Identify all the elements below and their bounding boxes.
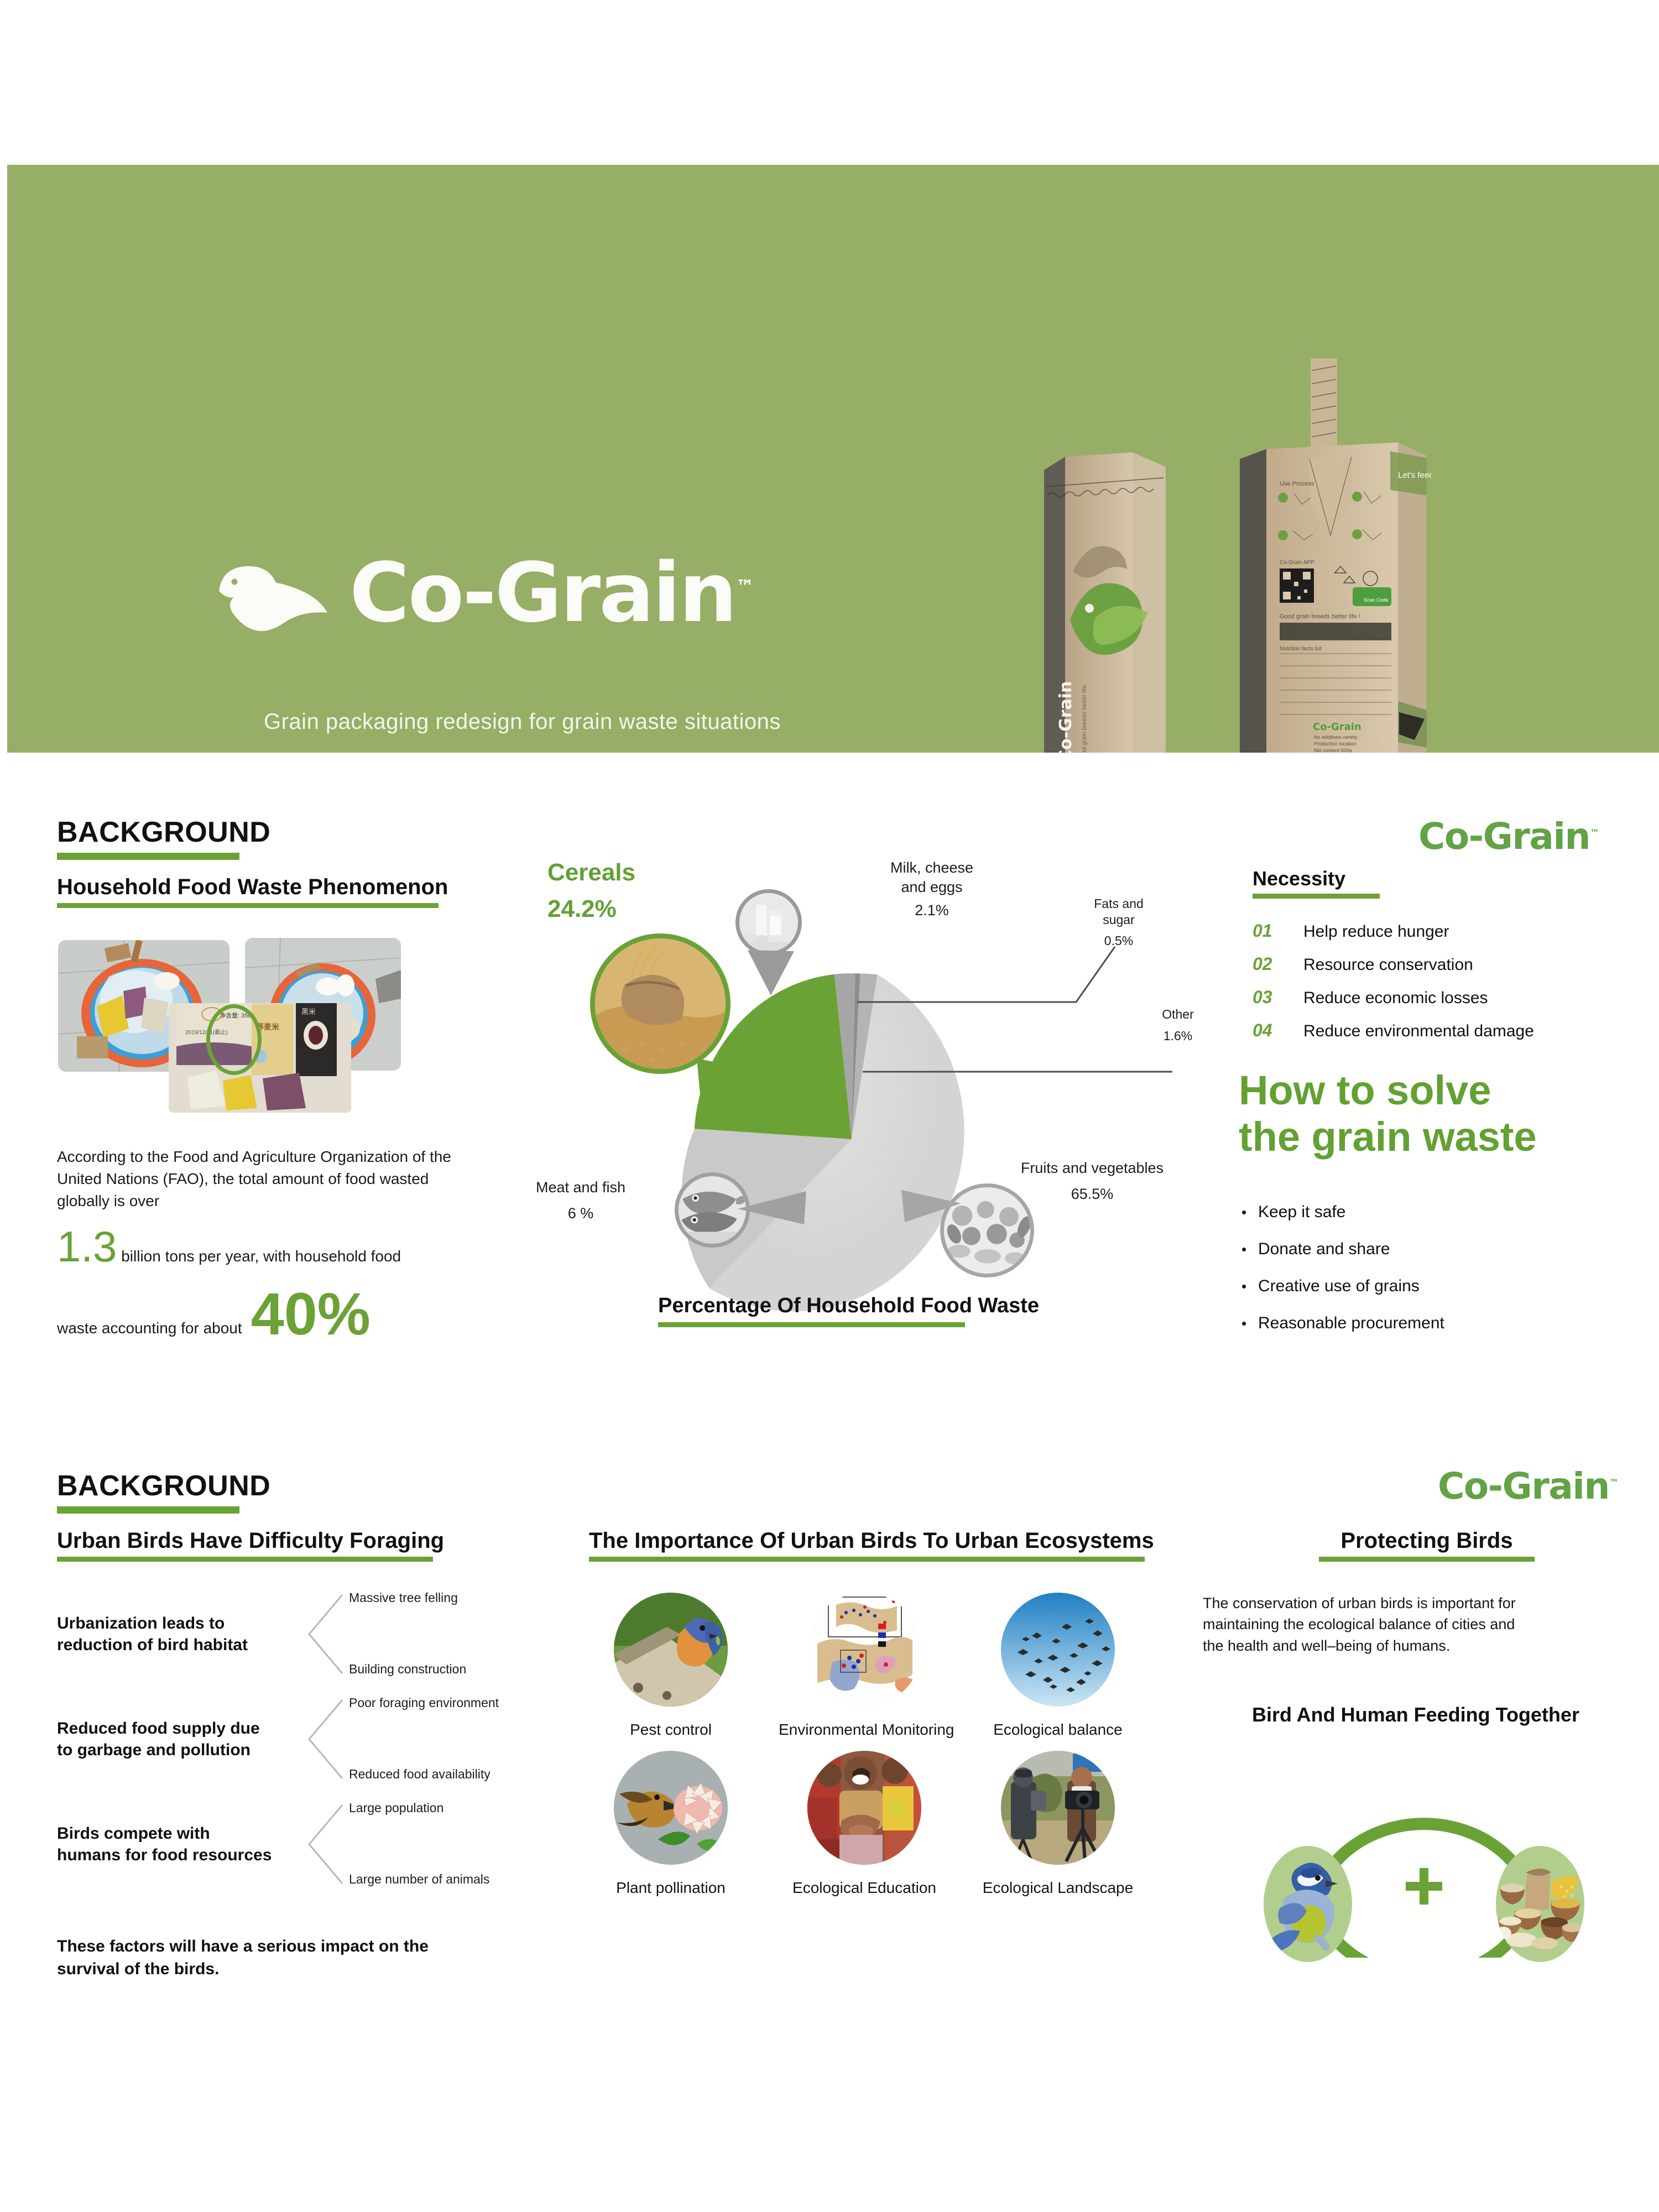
necessity-text: Reduce economic losses [1303,989,1488,1008]
cereals-highlight-label: Cereals 24.2% [547,854,635,927]
cereals-name: Cereals [547,854,635,891]
benefits-row: Plant pollination [585,1751,1155,1897]
milk-eggs-icon [735,889,802,956]
fao-paragraph-3: waste accounting for about [57,1317,242,1339]
necessity-number: 03 [1253,987,1303,1008]
necessity-number: 02 [1253,954,1303,974]
label-fats-sugar: Fats and sugar 0.5% [1072,896,1166,949]
label-milk-cheese-eggs: Milk, cheese and eggs 2.1% [841,858,1023,920]
fruits-pointer [901,1190,962,1232]
protecting-birds-paragraph: The conservation of urban birds is impor… [1203,1593,1623,1656]
chart-caption: Percentage Of Household Food Waste [658,1294,965,1327]
necessity-item: 03 Reduce economic losses [1253,987,1640,1008]
benefit-label: Ecological Landscape [972,1879,1144,1897]
label-meat-fish: Meat and fish 6 % [509,1178,653,1223]
importance-heading: The Importance Of Urban Birds To Urban E… [589,1529,1145,1562]
bird-human-feeding-diagram [1236,1736,1612,1958]
section1-eyebrow-rule [57,853,239,860]
svg-text:Co-Grain: Co-Grain [1056,681,1076,753]
svg-text:Good grain breeds better life: Good grain breeds better life [1081,685,1088,753]
section2-eyebrow-rule [57,1506,239,1514]
plus-icon [1406,1868,1442,1905]
cause-label: Reduced food supply due to garbage and p… [57,1718,295,1761]
benefit-item-environmental-monitoring: Environmental Monitoring [779,1593,950,1739]
household-waste-heading: Household Food Waste Phenomenon [57,875,439,908]
blue-tit-bird-photo [1264,1846,1352,1962]
bullet-icon: • [1241,1278,1258,1295]
benefit-item-ecological-landscape: Ecological Landscape [972,1751,1144,1897]
stat-1-3: 1.3 [57,1222,117,1271]
effect-label: Reduced food availability [349,1767,491,1782]
bullet-icon: • [1241,1241,1258,1258]
effect-label: Massive tree felling [349,1590,458,1605]
section1-logo: Co-Grain™ [1418,818,1599,855]
section1-eyebrow: BACKGROUND [57,817,239,860]
children-bird-photo [807,1751,921,1865]
bluebird-nestbox-photo [614,1593,728,1707]
hero-wordmark: Co-Grain™ [349,552,754,634]
meat-pointer [735,1191,806,1235]
fao-paragraph-2: billion tons per year, with household fo… [121,1248,401,1265]
effect-label: Building construction [349,1662,466,1677]
solution-text: Donate and share [1258,1240,1390,1259]
importance-heading-text: The Importance Of Urban Birds To Urban E… [589,1529,1145,1552]
feeding-together-heading: Bird And Human Feeding Together [1217,1703,1615,1726]
section1-eyebrow-text: BACKGROUND [57,817,239,848]
milk-pointer [748,950,794,995]
svg-text:Co-Grain APP: Co-Grain APP [1280,560,1314,566]
cereals-pointer [697,1051,780,1100]
necessity-heading-rule [1253,894,1380,899]
household-waste-heading-text: Household Food Waste Phenomenon [57,875,439,899]
benefit-item-ecological-balance: Ecological balance [972,1593,1144,1739]
effect-label: Large number of animals [349,1872,489,1887]
bullet-icon: • [1241,1315,1258,1332]
bullet-icon: • [1241,1204,1258,1221]
highlight-ellipse [206,1004,262,1075]
benefit-item-plant-pollination: Plant pollination [585,1751,757,1897]
svg-text:Good grain breeds better life: Good grain breeds better life ! [1280,613,1360,620]
necessity-text: Help reduce hunger [1303,922,1449,941]
benefit-label: Environmental Monitoring [779,1721,950,1739]
solution-text: Creative use of grains [1258,1277,1420,1296]
food-waste-photo-collage: 净含量: 350g 2019/12/21(截止) 荞麦米 黑米 [58,930,434,1113]
birdwatchers-camera-photo [1001,1751,1115,1865]
necessity-text: Resource conservation [1303,956,1473,974]
svg-text:Production location: Production location [1314,741,1357,747]
packaging-front-mockup: Co-Grain Good grain breeds better life C… [1044,452,1166,753]
trademark-symbol: ™ [735,576,754,598]
benefit-label: Ecological balance [972,1721,1144,1739]
causes-bracket-diagram: Urbanization leads to reduction of bird … [57,1593,516,1886]
urban-birds-heading-text: Urban Birds Have Difficulty Foraging [57,1529,433,1552]
solution-item: •Creative use of grains [1241,1277,1629,1296]
cause-group: Birds compete with humans for food resou… [57,1803,516,1886]
cause-group: Reduced food supply due to garbage and p… [57,1698,516,1781]
urban-birds-heading: Urban Birds Have Difficulty Foraging [57,1529,433,1562]
benefit-label: Pest control [585,1721,757,1739]
hummingbird-flower-photo [614,1751,728,1865]
benefit-label: Plant pollination [585,1879,757,1897]
necessity-text: Reduce environmental damage [1303,1022,1534,1041]
fao-statistic-paragraph: According to the Food and Agriculture Or… [57,1146,472,1339]
svg-text:黑米: 黑米 [301,1008,316,1016]
label-other: Other 1.6% [1134,1006,1222,1045]
chart-caption-text: Percentage Of Household Food Waste [658,1294,965,1318]
packaging-feeder-mockup: Let's feed Use Process Co-Grain APP [1232,358,1431,753]
svg-text:Let's feed: Let's feed [1398,471,1431,480]
fao-paragraph-1: According to the Food and Agriculture Or… [57,1148,451,1209]
necessity-number: 04 [1253,1020,1303,1041]
benefit-item-ecological-education: Ecological Education [779,1751,950,1897]
necessity-heading-text: Necessity [1253,868,1380,889]
benefit-label: Ecological Education [779,1879,950,1897]
cause-group: Urbanization leads to reduction of bird … [57,1593,516,1676]
protecting-birds-heading-text: Protecting Birds [1319,1529,1535,1552]
svg-text:No additives variety: No additives variety [1314,734,1358,740]
label-fruits-vegetables: Fruits and vegetables 65.5% [990,1159,1194,1203]
importance-heading-rule [589,1557,1145,1562]
hero-banner: Co-Grain Good grain breeds better life C… [7,165,1659,753]
section2-eyebrow: BACKGROUND [57,1471,239,1514]
hero-tagline: Grain packaging redesign for grain waste… [264,709,781,734]
bracket-icon [306,1803,345,1886]
grain-bowls-photo [1496,1846,1584,1962]
hero-logo: Co-Grain™ [215,552,754,645]
svg-text:Nutrition facts list: Nutrition facts list [1280,646,1322,652]
svg-text:Use Process: Use Process [1280,481,1314,487]
effect-label: Poor foraging environment [349,1695,499,1710]
svg-text:Co-Grain: Co-Grain [1313,721,1361,733]
cause-label: Urbanization leads to reduction of bird … [57,1613,295,1656]
survival-note: These factors will have a serious impact… [57,1936,477,1980]
solve-heading-line1: How to solve [1239,1067,1637,1114]
protecting-birds-heading-rule [1319,1557,1535,1562]
necessity-heading: Necessity [1253,868,1380,899]
solution-item: •Reasonable procurement [1241,1314,1629,1333]
necessity-list: 01 Help reduce hunger 02 Resource conser… [1253,921,1640,1053]
chart-caption-rule [658,1322,965,1327]
solution-text: Keep it safe [1258,1203,1345,1222]
solve-heading-line2: the grain waste [1239,1114,1637,1160]
solution-text: Reasonable procurement [1258,1314,1444,1333]
stat-40-percent: 40% [251,1288,371,1339]
cereals-value: 24.2% [547,891,635,927]
section2-eyebrow-text: BACKGROUND [57,1471,239,1501]
ecosystem-benefits-grid: Pest control [585,1593,1155,1909]
effect-label: Large population [349,1801,444,1815]
bracket-icon [306,1698,345,1781]
household-waste-heading-rule [57,903,439,908]
solve-heading: How to solve the grain waste [1239,1067,1637,1161]
grain-packets-photo: 净含量: 350g 2019/12/21(截止) 荞麦米 黑米 [169,1003,351,1113]
world-map-photo [807,1593,921,1707]
necessity-number: 01 [1253,921,1303,941]
solutions-list: •Keep it safe •Donate and share •Creativ… [1241,1203,1629,1351]
bird-flock-sky-photo [1001,1593,1115,1707]
solution-item: •Donate and share [1241,1240,1629,1259]
necessity-item: 04 Reduce environmental damage [1253,1020,1640,1041]
benefits-row: Pest control [585,1593,1155,1739]
benefit-item-pest-control: Pest control [585,1593,757,1739]
svg-text:Net content 500g: Net content 500g [1314,748,1352,753]
bird-logo-icon [215,562,331,645]
necessity-item: 01 Help reduce hunger [1253,921,1640,941]
protecting-birds-heading: Protecting Birds [1319,1529,1535,1562]
solution-item: •Keep it safe [1241,1203,1629,1222]
urban-birds-heading-rule [57,1557,433,1562]
bracket-icon [306,1593,345,1676]
svg-text:Scan Code: Scan Code [1364,597,1389,603]
cause-label: Birds compete with humans for food resou… [57,1823,295,1866]
section2-logo: Co-Grain™ [1438,1468,1618,1505]
necessity-item: 02 Resource conservation [1253,954,1640,974]
household-waste-pie-chart: Cereals 24.2% [514,830,1172,1355]
